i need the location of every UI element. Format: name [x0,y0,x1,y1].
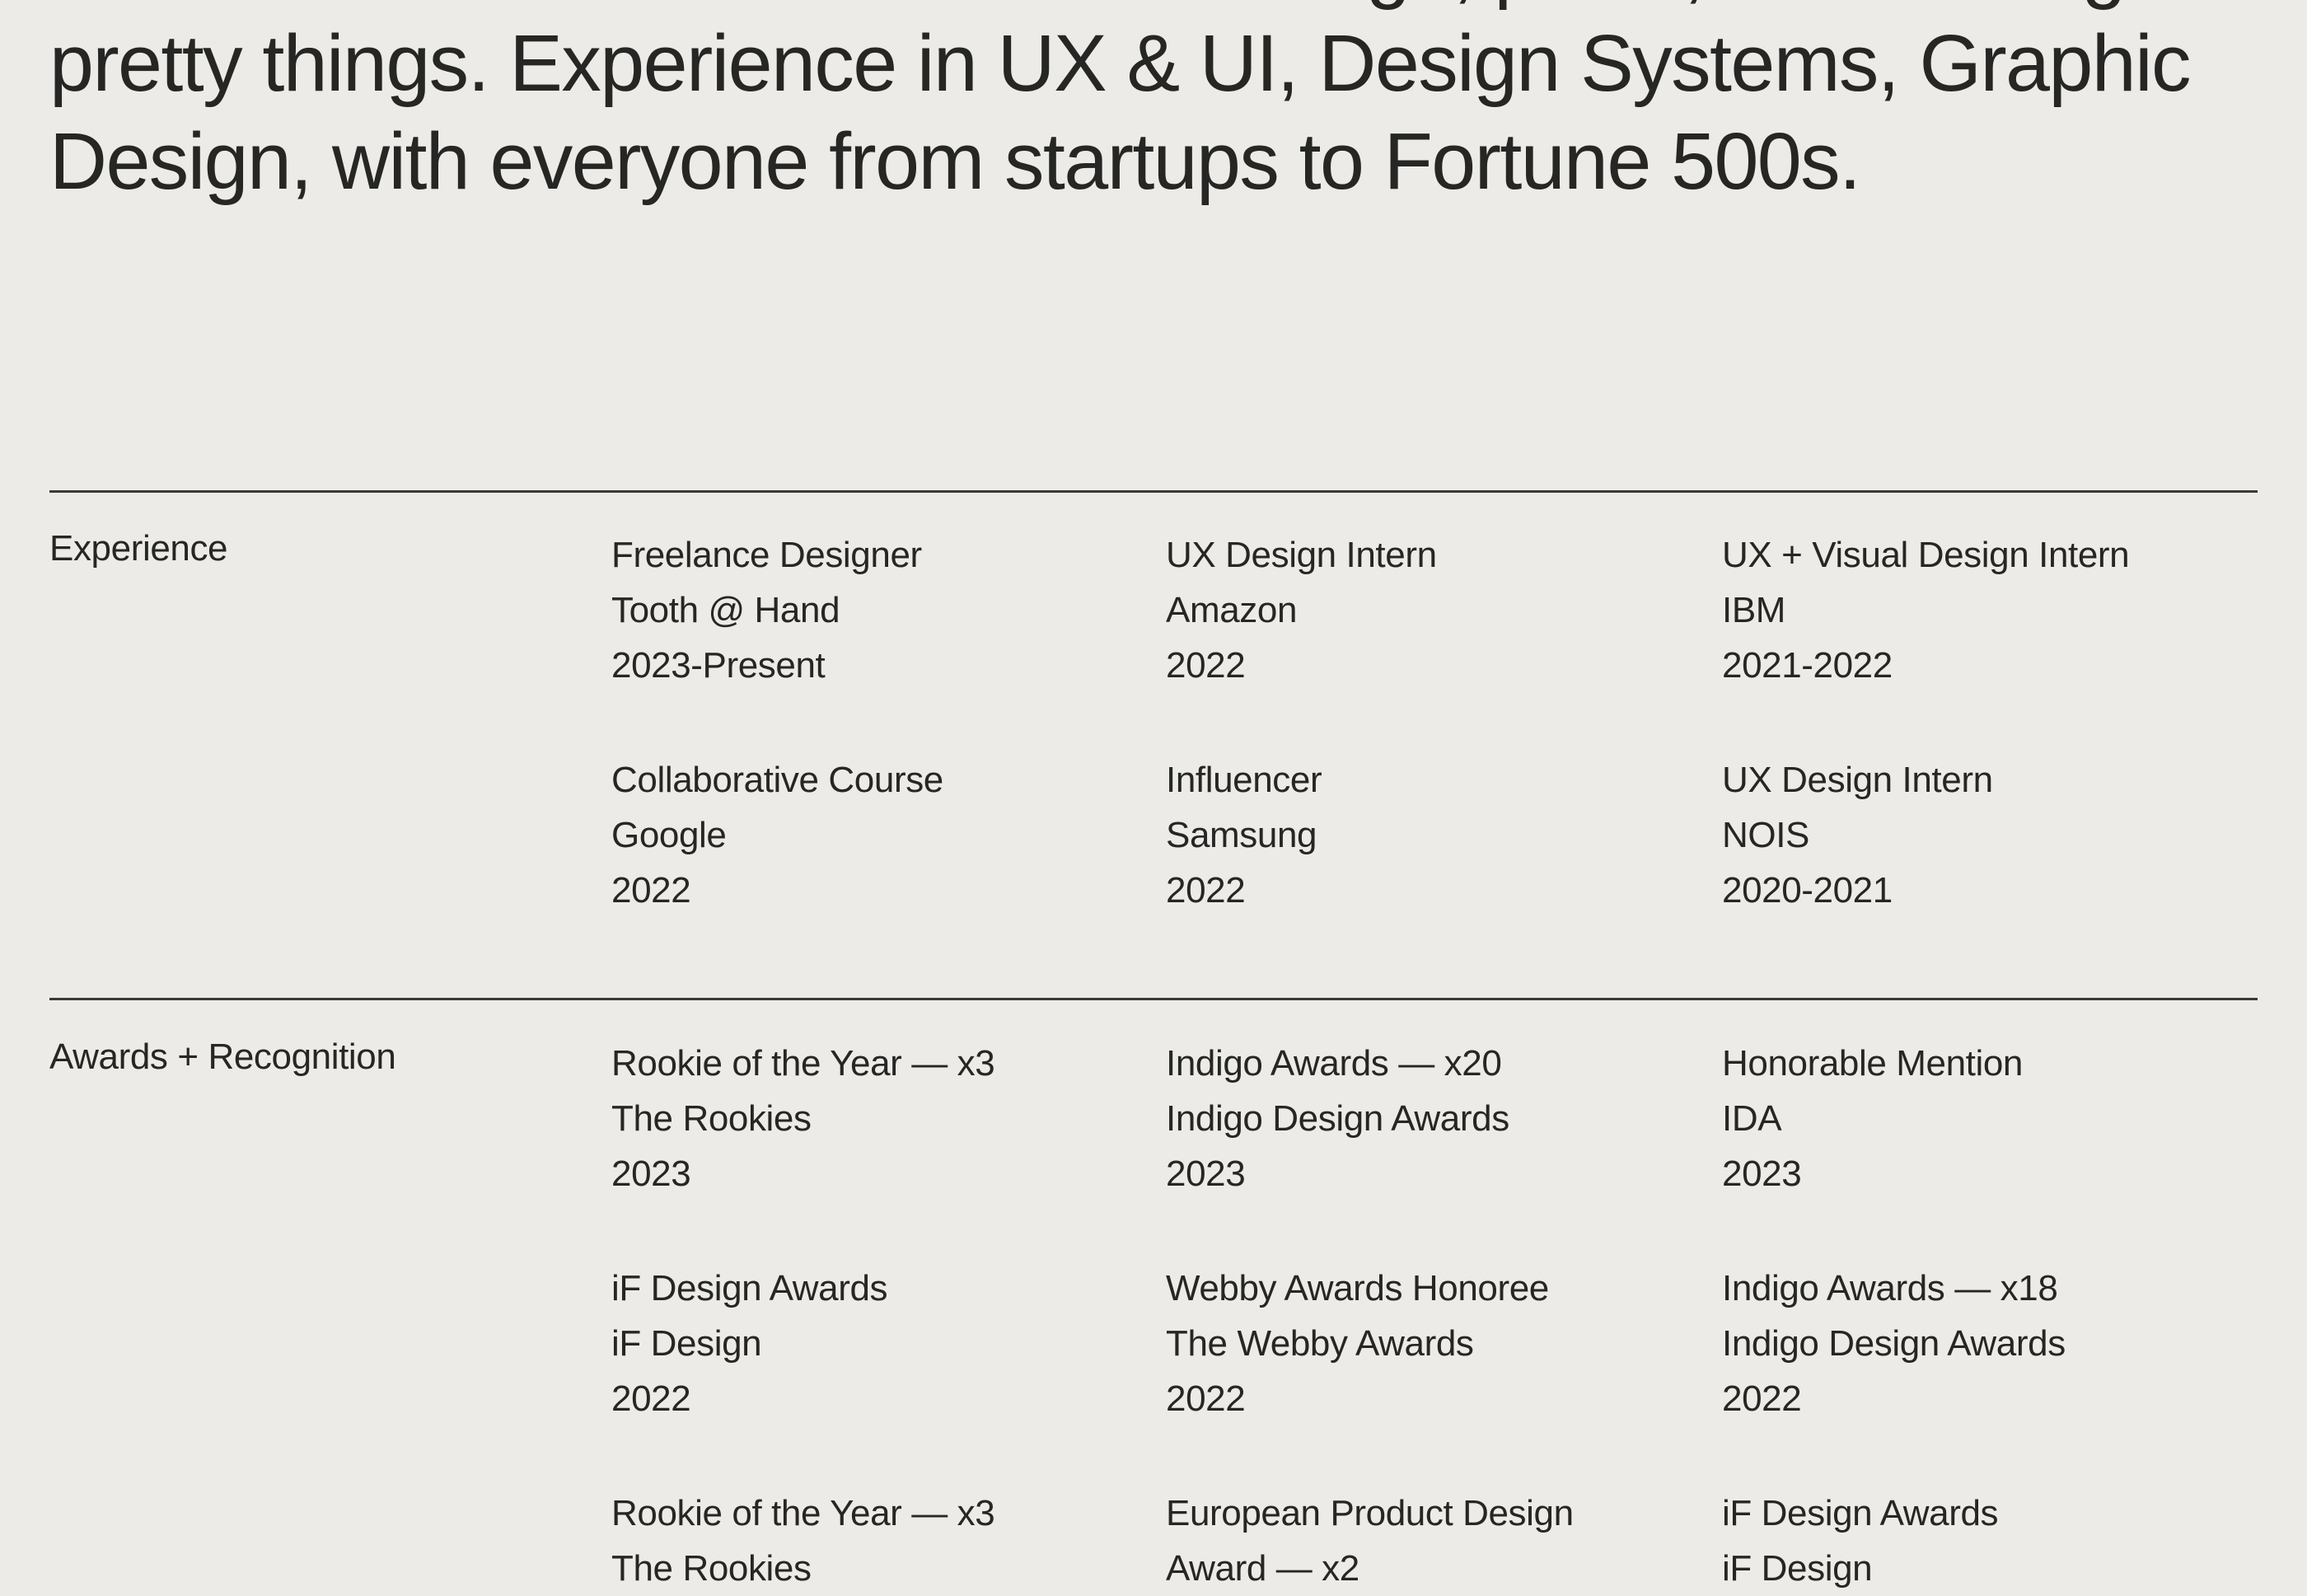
entry-role: Indigo Awards — x20 [1166,1036,1722,1091]
entry-org: The Rookies [611,1541,1166,1596]
entry-role: Collaborative Course [611,752,1166,807]
list-item[interactable]: European Product Design Award — x2 [1166,1486,1722,1596]
experience-column-3: UX + Visual Design Intern IBM 2021-2022 … [1722,527,2258,918]
list-item[interactable]: Influencer Samsung 2022 [1166,752,1722,918]
experience-column-2: UX Design Intern Amazon 2022 Influencer … [1166,527,1722,918]
entry-org: Indigo Design Awards [1166,1091,1722,1146]
entry-org: Google [611,807,1166,863]
entry-years: 2023 [1166,1146,1722,1201]
entry-role: iF Design Awards [1722,1486,2258,1541]
entry-role: iF Design Awards [611,1261,1166,1316]
entry-years: 2022 [611,1371,1166,1426]
list-item[interactable]: Honorable Mention IDA 2023 [1722,1036,2258,1201]
section-divider-awards [49,998,2258,1000]
entry-years: 2022 [1166,638,1722,693]
entry-role: Freelance Designer [611,527,1166,583]
list-item[interactable]: UX + Visual Design Intern IBM 2021-2022 [1722,527,2258,693]
entry-years: 2022 [1722,1371,2258,1426]
entry-role: Webby Awards Honoree [1166,1261,1722,1316]
list-item[interactable]: Freelance Designer Tooth @ Hand 2023-Pre… [611,527,1166,693]
list-item[interactable]: iF Design Awards iF Design 2022 [611,1261,1166,1426]
list-item[interactable]: Indigo Awards — x18 Indigo Design Awards… [1722,1261,2258,1426]
entry-org: The Rookies [611,1091,1166,1146]
entry-years: 2023-Present [611,638,1166,693]
entry-role: UX Design Intern [1166,527,1722,583]
intro-paragraph: with Tooth & Hand. Lover of swiss design… [49,0,2258,210]
entry-org: Indigo Design Awards [1722,1316,2258,1371]
entry-role: Indigo Awards — x18 [1722,1261,2258,1316]
entry-years: 2022 [1166,863,1722,918]
section-awards: Awards + Recognition Rookie of the Year … [49,1036,2258,1596]
entry-org: Samsung [1166,807,1722,863]
list-item[interactable]: UX Design Intern Amazon 2022 [1166,527,1722,693]
entry-role: UX + Visual Design Intern [1722,527,2258,583]
section-experience: Experience Freelance Designer Tooth @ Ha… [49,527,2258,918]
entry-role: Influencer [1166,752,1722,807]
entry-org: Award — x2 [1166,1541,1722,1596]
awards-column-3: Honorable Mention IDA 2023 Indigo Awards… [1722,1036,2258,1596]
entry-years: 2022 [1166,1371,1722,1426]
list-item[interactable]: UX Design Intern NOIS 2020-2021 [1722,752,2258,918]
entry-role: Rookie of the Year — x3 [611,1486,1166,1541]
entry-role: European Product Design [1166,1486,1722,1541]
entry-org: IDA [1722,1091,2258,1146]
section-label-experience: Experience [49,527,611,918]
entry-role: UX Design Intern [1722,752,2258,807]
entry-years: 2022 [611,863,1166,918]
entry-years: 2021-2022 [1722,638,2258,693]
section-divider-experience [49,490,2258,493]
entry-org: Amazon [1166,583,1722,638]
entry-org: iF Design [1722,1541,2258,1596]
list-item[interactable]: Rookie of the Year — x3 The Rookies 2023 [611,1036,1166,1201]
entry-org: The Webby Awards [1166,1316,1722,1371]
list-item[interactable]: Rookie of the Year — x3 The Rookies [611,1486,1166,1596]
resume-page: with Tooth & Hand. Lover of swiss design… [0,0,2307,1566]
section-label-awards: Awards + Recognition [49,1036,611,1596]
list-item[interactable]: Indigo Awards — x20 Indigo Design Awards… [1166,1036,1722,1201]
entry-role: Honorable Mention [1722,1036,2258,1091]
awards-column-2: Indigo Awards — x20 Indigo Design Awards… [1166,1036,1722,1596]
experience-column-1: Freelance Designer Tooth @ Hand 2023-Pre… [611,527,1166,918]
entry-org: iF Design [611,1316,1166,1371]
list-item[interactable]: Webby Awards Honoree The Webby Awards 20… [1166,1261,1722,1426]
list-item[interactable]: Collaborative Course Google 2022 [611,752,1166,918]
entry-years: 2020-2021 [1722,863,2258,918]
entry-org: NOIS [1722,807,2258,863]
entry-years: 2023 [1722,1146,2258,1201]
entry-years: 2023 [611,1146,1166,1201]
entry-org: IBM [1722,583,2258,638]
entry-org: Tooth @ Hand [611,583,1166,638]
list-item[interactable]: iF Design Awards iF Design [1722,1486,2258,1596]
entry-role: Rookie of the Year — x3 [611,1036,1166,1091]
awards-column-1: Rookie of the Year — x3 The Rookies 2023… [611,1036,1166,1596]
